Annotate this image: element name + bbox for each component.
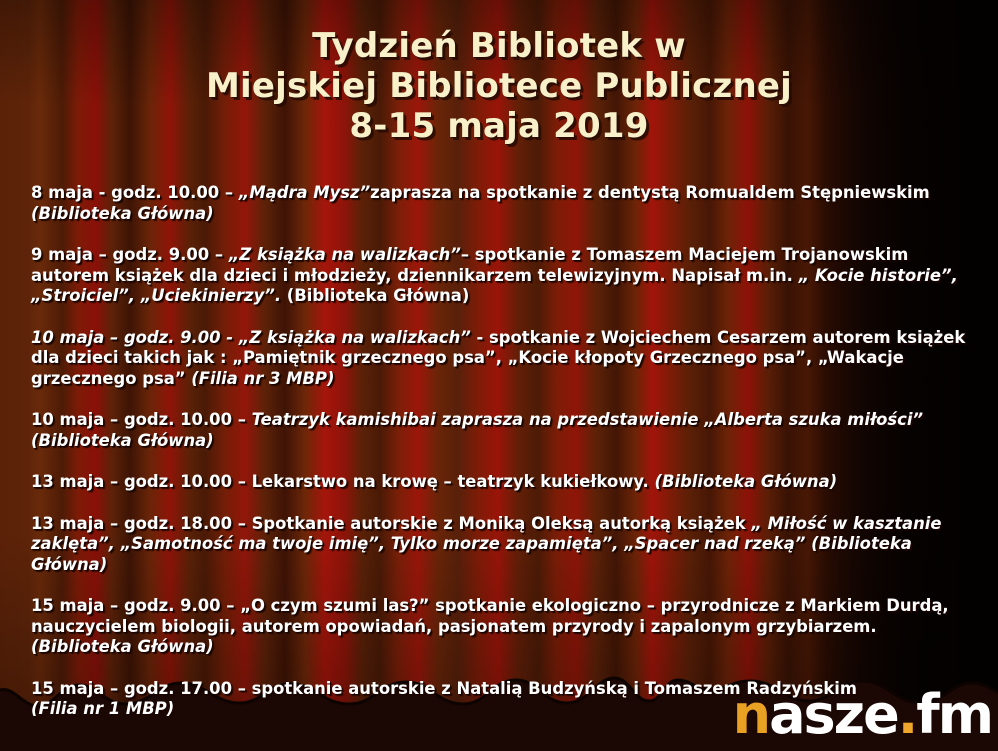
event-venue: (Filia nr 1 MBP): [31, 699, 174, 718]
watermark-asze: asze: [769, 683, 898, 746]
event-body: Lekarstwo na krowę – teatrzyk kukiełkowy…: [252, 472, 655, 491]
nasze-fm-watermark: nasze.fm: [733, 688, 992, 742]
event-body: zaprasza na spotkanie z dentystą Romuald…: [370, 183, 930, 202]
poster-canvas: Tydzień Bibliotek w Miejskiej Bibliotece…: [0, 0, 998, 751]
event-venue: (Biblioteka Główna): [654, 472, 837, 491]
event-datetime: 8 maja - godz. 10.00 –: [31, 183, 239, 202]
event-venue: (Biblioteka Główna): [31, 204, 214, 223]
event-datetime: 15 maja – godz. 9.00 –: [31, 596, 240, 615]
event-datetime: 13 maja – godz. 18.00 –: [31, 514, 252, 533]
event-title-quoted: „Mądra Mysz”: [239, 183, 370, 202]
event-title-quoted: „Z książka na walizkach”: [229, 245, 461, 264]
event-datetime: 10 maja – godz. 10.00 –: [31, 410, 252, 429]
event-venue: (Filia nr 3 MBP): [191, 369, 334, 388]
event-venue: (Biblioteka Główna): [31, 431, 214, 450]
event-item: 13 maja – godz. 18.00 – Spotkanie autors…: [31, 514, 977, 576]
event-body: Teatrzyk kamishibai zaprasza na przedsta…: [252, 410, 923, 429]
watermark-fm: fm: [916, 683, 992, 746]
event-item: 9 maja – godz. 9.00 – „Z książka na wali…: [31, 245, 977, 307]
event-datetime: 13 maja – godz. 10.00 –: [31, 472, 252, 491]
event-datetime: 9 maja – godz. 9.00 –: [31, 245, 229, 264]
event-item: 15 maja – godz. 9.00 – „O czym szumi las…: [31, 596, 977, 658]
event-title-quoted: „O czym szumi las?”: [240, 596, 429, 615]
watermark-n: n: [733, 683, 769, 746]
title-line-1: Tydzień Bibliotek w: [0, 26, 998, 66]
event-item: 13 maja – godz. 10.00 – Lekarstwo na kro…: [31, 472, 977, 493]
event-item: 10 maja – godz. 10.00 – Teatrzyk kamishi…: [31, 410, 977, 451]
title-line-2: Miejskiej Bibliotece Publicznej: [0, 66, 998, 106]
event-body: Spotkanie autorskie z Moniką Oleksą auto…: [252, 514, 752, 533]
watermark-dot: .: [898, 683, 917, 746]
event-item: 10 maja – godz. 9.00 - „Z książka na wal…: [31, 328, 977, 390]
event-title-quoted: „Z książka na walizkach”: [239, 328, 471, 347]
title-line-3: 8-15 maja 2019: [0, 106, 998, 146]
poster-title: Tydzień Bibliotek w Miejskiej Bibliotece…: [0, 26, 998, 146]
event-item: 8 maja - godz. 10.00 – „Mądra Mysz”zapra…: [31, 183, 977, 224]
event-venue: (Biblioteka Główna): [31, 637, 214, 656]
event-datetime: 15 maja – godz. 17.00 –: [31, 679, 252, 698]
event-venue: (Biblioteka Główna): [281, 286, 469, 305]
event-list: 8 maja - godz. 10.00 – „Mądra Mysz”zapra…: [31, 183, 977, 741]
event-datetime: 10 maja – godz. 9.00 -: [31, 328, 239, 347]
